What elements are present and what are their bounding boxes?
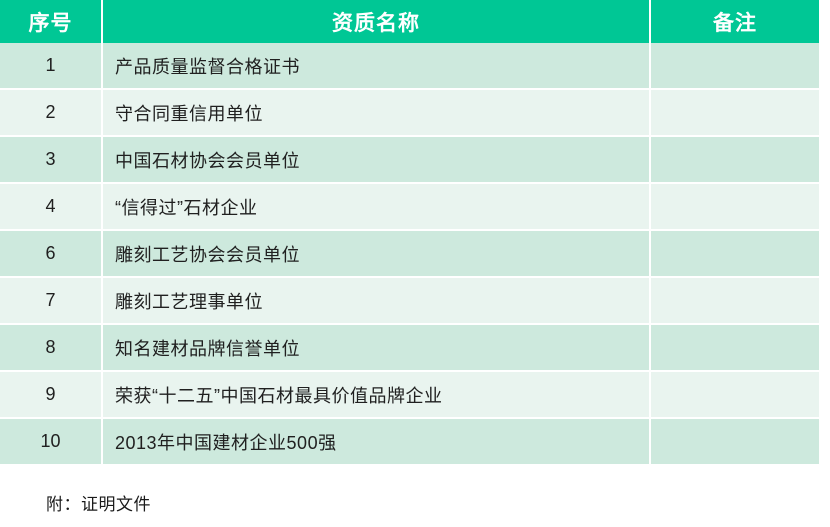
column-header-no: 序号 (0, 0, 103, 43)
table-row: 4 “信得过”石材企业 (0, 184, 819, 231)
table-body: 1 产品质量监督合格证书 2 守合同重信用单位 3 中国石材协会会员单位 4 “… (0, 43, 819, 464)
table-row: 10 2013年中国建材企业500强 (0, 419, 819, 464)
table-row: 3 中国石材协会会员单位 (0, 137, 819, 184)
cell-name: 荣获“十二五”中国石材最具价值品牌企业 (103, 372, 651, 419)
cell-remark (651, 419, 819, 464)
cell-name: 守合同重信用单位 (103, 90, 651, 137)
cell-remark (651, 137, 819, 184)
cell-name: 产品质量监督合格证书 (103, 43, 651, 90)
footer-note: 附：证明文件 (46, 490, 151, 515)
cell-name: “信得过”石材企业 (103, 184, 651, 231)
cell-no: 6 (0, 231, 103, 278)
qualifications-table: 序号 资质名称 备注 1 产品质量监督合格证书 2 守合同重信用单位 3 中国石… (0, 0, 819, 464)
column-header-remark: 备注 (651, 0, 819, 43)
cell-remark (651, 43, 819, 90)
cell-remark (651, 278, 819, 325)
cell-no: 10 (0, 419, 103, 464)
cell-remark (651, 231, 819, 278)
table-row: 2 守合同重信用单位 (0, 90, 819, 137)
cell-no: 2 (0, 90, 103, 137)
table-row: 6 雕刻工艺协会会员单位 (0, 231, 819, 278)
cell-remark (651, 184, 819, 231)
cell-no: 1 (0, 43, 103, 90)
cell-remark (651, 90, 819, 137)
cell-name: 雕刻工艺协会会员单位 (103, 231, 651, 278)
document-page: 序号 资质名称 备注 1 产品质量监督合格证书 2 守合同重信用单位 3 中国石… (0, 0, 830, 527)
cell-remark (651, 372, 819, 419)
table-row: 8 知名建材品牌信誉单位 (0, 325, 819, 372)
cell-no: 8 (0, 325, 103, 372)
cell-name: 中国石材协会会员单位 (103, 137, 651, 184)
table-header-row: 序号 资质名称 备注 (0, 0, 819, 43)
table-header: 序号 资质名称 备注 (0, 0, 819, 43)
table-row: 9 荣获“十二五”中国石材最具价值品牌企业 (0, 372, 819, 419)
cell-no: 4 (0, 184, 103, 231)
cell-name: 知名建材品牌信誉单位 (103, 325, 651, 372)
cell-no: 3 (0, 137, 103, 184)
table-row: 7 雕刻工艺理事单位 (0, 278, 819, 325)
cell-name: 雕刻工艺理事单位 (103, 278, 651, 325)
cell-remark (651, 325, 819, 372)
table-row: 1 产品质量监督合格证书 (0, 43, 819, 90)
cell-name: 2013年中国建材企业500强 (103, 419, 651, 464)
column-header-name: 资质名称 (103, 0, 651, 43)
cell-no: 9 (0, 372, 103, 419)
cell-no: 7 (0, 278, 103, 325)
